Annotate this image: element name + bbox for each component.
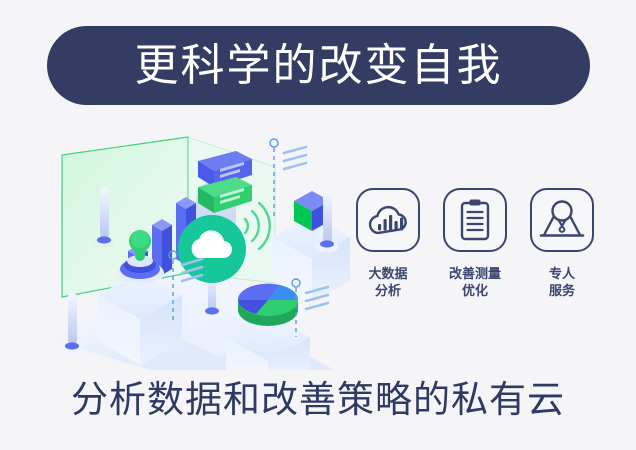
feature-label-service: 专人 服务 xyxy=(549,266,575,300)
feature-label-line2: 优化 xyxy=(462,284,488,299)
feature-label-line1: 专人 xyxy=(549,267,575,282)
feature-item-big-data[interactable]: 大数据 分析 xyxy=(352,188,424,300)
clipboard-icon-frame xyxy=(443,188,507,252)
feature-label-measurement: 改善测量 优化 xyxy=(449,266,501,300)
tagline: 分析数据和改善策略的私有云 xyxy=(0,381,636,418)
feature-label-line1: 大数据 xyxy=(368,267,407,282)
cloud-bar-chart-icon xyxy=(366,200,410,240)
feature-label-big-data: 大数据 分析 xyxy=(368,266,407,300)
poster-root: 更科学的改变自我 xyxy=(0,0,636,450)
feature-item-measurement[interactable]: 改善测量 优化 xyxy=(439,188,511,300)
marker-lines-1 xyxy=(284,147,306,169)
service-agent-icon-frame xyxy=(530,188,594,252)
feature-item-service[interactable]: 专人 服务 xyxy=(526,188,598,300)
header-banner: 更科学的改变自我 xyxy=(47,26,590,105)
isometric-illustration xyxy=(40,125,350,370)
service-agent-icon xyxy=(538,198,586,242)
feature-label-line2: 分析 xyxy=(375,284,401,299)
feature-list: 大数据 分析 改善测量 优化 xyxy=(352,188,598,333)
clipboard-icon xyxy=(455,198,495,242)
pie-chart-3d xyxy=(238,284,298,326)
page-title: 更科学的改变自我 xyxy=(135,44,503,88)
feature-label-line1: 改善测量 xyxy=(449,267,501,282)
feature-label-line2: 服务 xyxy=(549,284,575,299)
cloud-bar-chart-icon-frame xyxy=(356,188,420,252)
